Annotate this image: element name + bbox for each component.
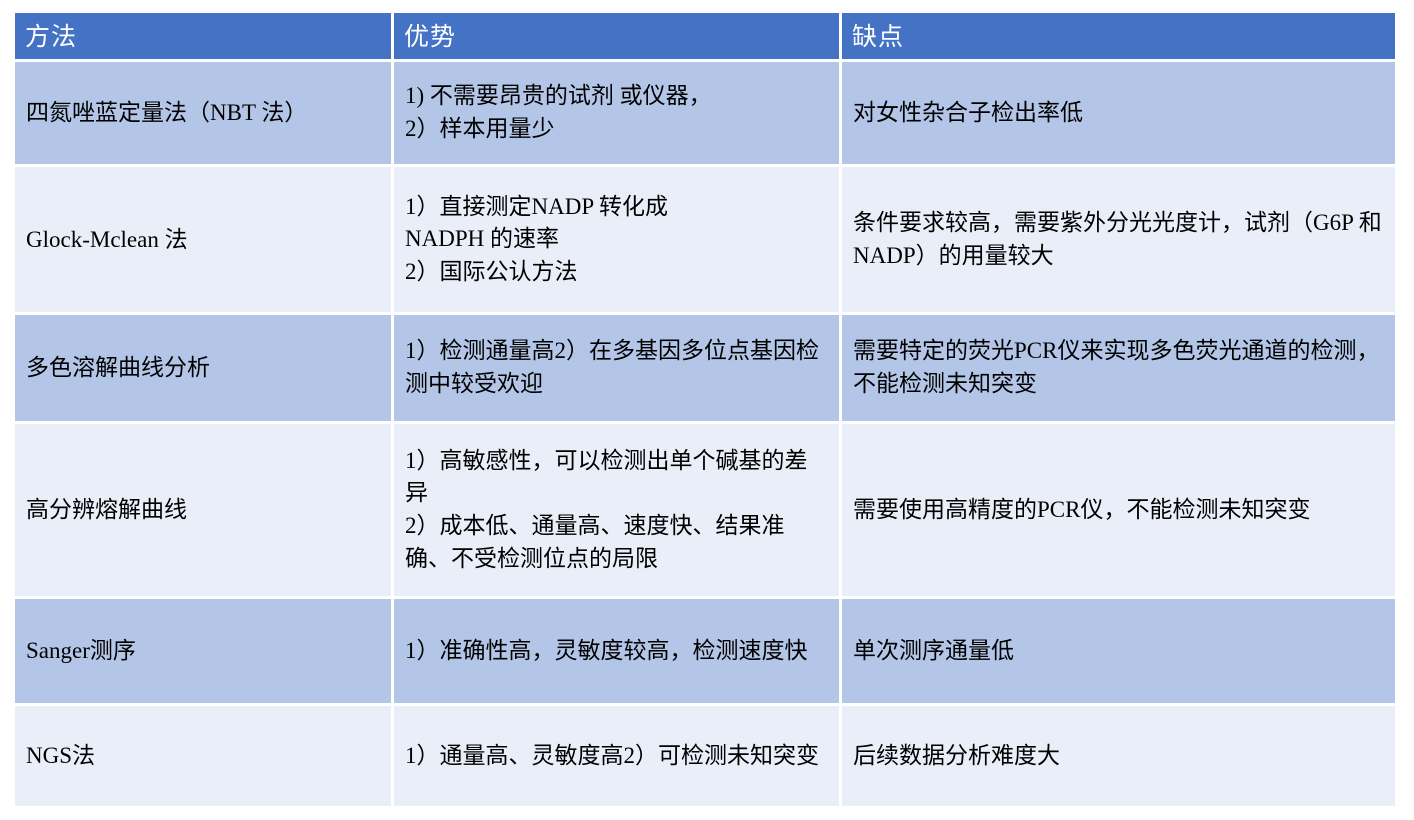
- table-row: 四氮唑蓝定量法（NBT 法） 1) 不需要昂贵的试剂 或仪器， 2）样本用量少 …: [15, 62, 1395, 164]
- table-header: 方法 优势 缺点: [15, 13, 1395, 59]
- cell-method: Sanger测序: [15, 599, 391, 703]
- table-row: 高分辨熔解曲线 1）高敏感性，可以检测出单个碱基的差异 2）成本低、通量高、速度…: [15, 424, 1395, 596]
- cell-method: Glock-Mclean 法: [15, 167, 391, 312]
- cell-advantage-text: 1）准确性高，灵敏度较高，检测速度快: [405, 635, 828, 668]
- cell-method-text: 四氮唑蓝定量法（NBT 法）: [26, 98, 380, 128]
- cell-disadvantage: 后续数据分析难度大: [842, 706, 1395, 806]
- cell-advantage-text: 1）高敏感性，可以检测出单个碱基的差异 2）成本低、通量高、速度快、结果准确、不…: [405, 445, 828, 576]
- cell-disadvantage-text: 条件要求较高，需要紫外分光光度计，试剂（G6P 和 NADP）的用量较大: [853, 207, 1384, 272]
- cell-method-text: Sanger测序: [26, 636, 380, 666]
- cell-method: NGS法: [15, 706, 391, 806]
- cell-disadvantage-text: 需要使用高精度的PCR仪，不能检测未知突变: [853, 494, 1384, 527]
- cell-method-text: 高分辨熔解曲线: [26, 495, 380, 525]
- table-row: 多色溶解曲线分析 1）检测通量高2）在多基因多位点基因检测中较受欢迎 需要特定的…: [15, 315, 1395, 421]
- cell-disadvantage: 需要使用高精度的PCR仪，不能检测未知突变: [842, 424, 1395, 596]
- cell-advantage: 1）高敏感性，可以检测出单个碱基的差异 2）成本低、通量高、速度快、结果准确、不…: [394, 424, 839, 596]
- cell-disadvantage-text: 需要特定的荧光PCR仪来实现多色荧光通道的检测，不能检测未知突变: [853, 335, 1384, 400]
- table-row: NGS法 1）通量高、灵敏度高2）可检测未知突变 后续数据分析难度大: [15, 706, 1395, 806]
- cell-advantage-text: 1）直接测定NADP 转化成 NADPH 的速率 2）国际公认方法: [405, 191, 828, 289]
- cell-method: 高分辨熔解曲线: [15, 424, 391, 596]
- cell-advantage-text: 1) 不需要昂贵的试剂 或仪器， 2）样本用量少: [405, 80, 828, 145]
- cell-disadvantage-text: 对女性杂合子检出率低: [853, 97, 1384, 130]
- column-header-advantage: 优势: [394, 13, 839, 59]
- cell-disadvantage: 单次测序通量低: [842, 599, 1395, 703]
- method-comparison-table: 方法 优势 缺点 四氮唑蓝定量法（NBT 法） 1) 不需要昂贵的试剂 或仪器，…: [12, 10, 1398, 809]
- cell-disadvantage-text: 后续数据分析难度大: [853, 740, 1384, 773]
- cell-disadvantage: 对女性杂合子检出率低: [842, 62, 1395, 164]
- table-body: 四氮唑蓝定量法（NBT 法） 1) 不需要昂贵的试剂 或仪器， 2）样本用量少 …: [15, 62, 1395, 806]
- cell-disadvantage-text: 单次测序通量低: [853, 635, 1384, 668]
- cell-method-text: NGS法: [26, 741, 380, 771]
- table-header-row: 方法 优势 缺点: [15, 13, 1395, 59]
- cell-method: 四氮唑蓝定量法（NBT 法）: [15, 62, 391, 164]
- column-header-disadvantage: 缺点: [842, 13, 1395, 59]
- cell-disadvantage: 条件要求较高，需要紫外分光光度计，试剂（G6P 和 NADP）的用量较大: [842, 167, 1395, 312]
- comparison-table-container: 方法 优势 缺点 四氮唑蓝定量法（NBT 法） 1) 不需要昂贵的试剂 或仪器，…: [15, 13, 1398, 800]
- cell-advantage: 1）检测通量高2）在多基因多位点基因检测中较受欢迎: [394, 315, 839, 421]
- cell-method-text: 多色溶解曲线分析: [26, 353, 380, 383]
- cell-advantage-text: 1）检测通量高2）在多基因多位点基因检测中较受欢迎: [405, 335, 828, 400]
- cell-advantage: 1）准确性高，灵敏度较高，检测速度快: [394, 599, 839, 703]
- cell-method-text: Glock-Mclean 法: [26, 225, 380, 255]
- cell-advantage-text: 1）通量高、灵敏度高2）可检测未知突变: [405, 740, 828, 773]
- cell-advantage: 1）通量高、灵敏度高2）可检测未知突变: [394, 706, 839, 806]
- cell-disadvantage: 需要特定的荧光PCR仪来实现多色荧光通道的检测，不能检测未知突变: [842, 315, 1395, 421]
- cell-method: 多色溶解曲线分析: [15, 315, 391, 421]
- cell-advantage: 1) 不需要昂贵的试剂 或仪器， 2）样本用量少: [394, 62, 839, 164]
- table-row: Sanger测序 1）准确性高，灵敏度较高，检测速度快 单次测序通量低: [15, 599, 1395, 703]
- table-row: Glock-Mclean 法 1）直接测定NADP 转化成 NADPH 的速率 …: [15, 167, 1395, 312]
- cell-advantage: 1）直接测定NADP 转化成 NADPH 的速率 2）国际公认方法: [394, 167, 839, 312]
- column-header-method: 方法: [15, 13, 391, 59]
